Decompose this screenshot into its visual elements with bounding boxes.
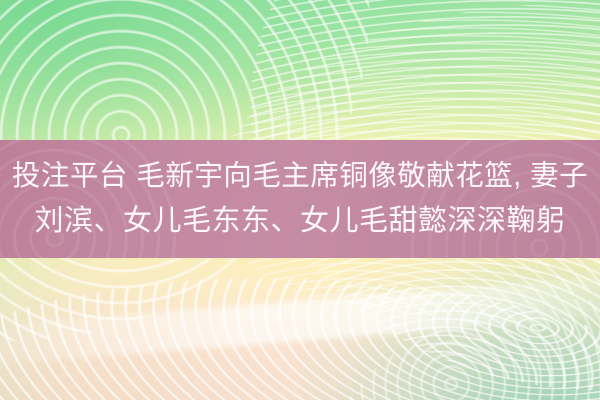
caption-line-2: 刘滨、女儿毛东东、女儿毛甜懿深深鞠躬 xyxy=(34,199,565,244)
banner-image: 投注平台 毛新宇向毛主席铜像敬献花篮, 妻子 刘滨、女儿毛东东、女儿毛甜懿深深鞠… xyxy=(0,0,600,400)
caption-band: 投注平台 毛新宇向毛主席铜像敬献花篮, 妻子 刘滨、女儿毛东东、女儿毛甜懿深深鞠… xyxy=(0,140,600,258)
caption-line-1: 投注平台 毛新宇向毛主席铜像敬献花篮, 妻子 xyxy=(12,154,588,199)
